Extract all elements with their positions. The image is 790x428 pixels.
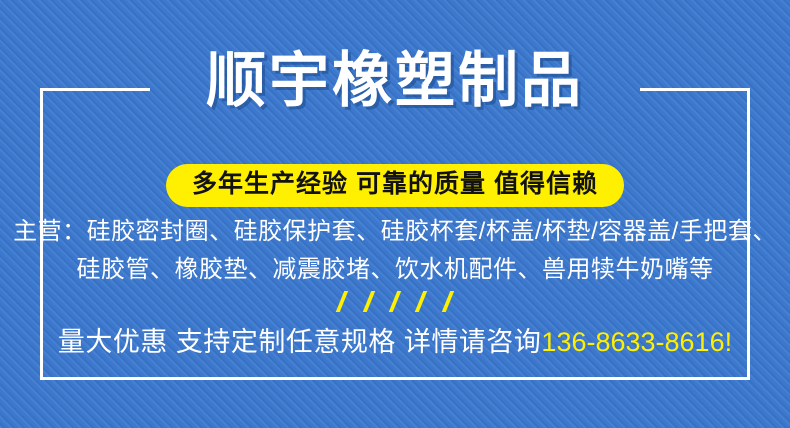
slogan-badge: 多年生产经验 可靠的质量 值得信赖 bbox=[166, 164, 624, 207]
slogan-container: 多年生产经验 可靠的质量 值得信赖 bbox=[0, 164, 790, 207]
slash-divider bbox=[0, 291, 790, 315]
slash-mark-icon bbox=[415, 291, 427, 312]
promo-banner: 顺宇橡塑制品 多年生产经验 可靠的质量 值得信赖 主营：硅胶密封圈、硅胶保护套、… bbox=[0, 0, 790, 428]
description-line-1: 主营：硅胶密封圈、硅胶保护套、硅胶杯套/杯盖/杯垫/容器盖/手把套、 bbox=[0, 213, 790, 251]
frame-bottom-border bbox=[40, 377, 750, 380]
product-description: 主营：硅胶密封圈、硅胶保护套、硅胶杯套/杯盖/杯垫/容器盖/手把套、 硅胶管、橡… bbox=[0, 213, 790, 289]
description-line-2: 硅胶管、橡胶垫、减震胶堵、饮水机配件、兽用犊牛奶嘴等 bbox=[0, 251, 790, 289]
slash-mark-icon bbox=[389, 291, 401, 312]
cta-text: 量大优惠 支持定制任意规格 详情请咨询 bbox=[58, 327, 542, 357]
slash-mark-icon bbox=[336, 291, 348, 312]
banner-title: 顺宇橡塑制品 bbox=[0, 46, 790, 115]
slash-mark-icon bbox=[362, 291, 374, 312]
slash-mark-icon bbox=[442, 291, 454, 312]
call-to-action: 量大优惠 支持定制任意规格 详情请咨询136-8633-8616! bbox=[0, 320, 790, 359]
contact-phone-number[interactable]: 136-8633-8616! bbox=[541, 327, 732, 357]
